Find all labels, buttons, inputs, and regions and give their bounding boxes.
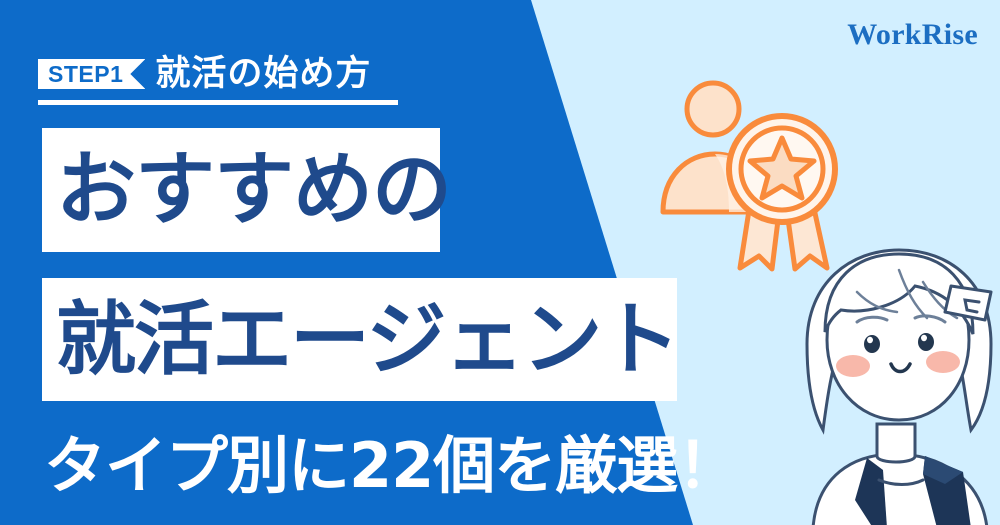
headline-box-1: おすすめの	[42, 128, 440, 252]
subline-text: タイプ別に22個を厳選！	[44, 432, 738, 500]
step-title: 就活の始め方	[155, 55, 371, 93]
step-row: STEP1 就活の始め方	[38, 52, 371, 96]
headline-line-2: 就活エージェント	[42, 296, 678, 384]
step-underline	[38, 100, 398, 105]
brand-logo: WorkRise	[847, 18, 978, 52]
banner-canvas: WorkRise STEP1 就活の始め方 おすすめの 就活エージェント タイプ…	[0, 0, 1000, 525]
headline-box-2: 就活エージェント	[42, 278, 677, 401]
job-hunting-student-illustration	[795, 248, 1000, 525]
person-award-medal-icon	[655, 72, 855, 277]
step-badge: STEP1	[38, 59, 145, 89]
headline-line-1: おすすめの	[42, 146, 451, 234]
